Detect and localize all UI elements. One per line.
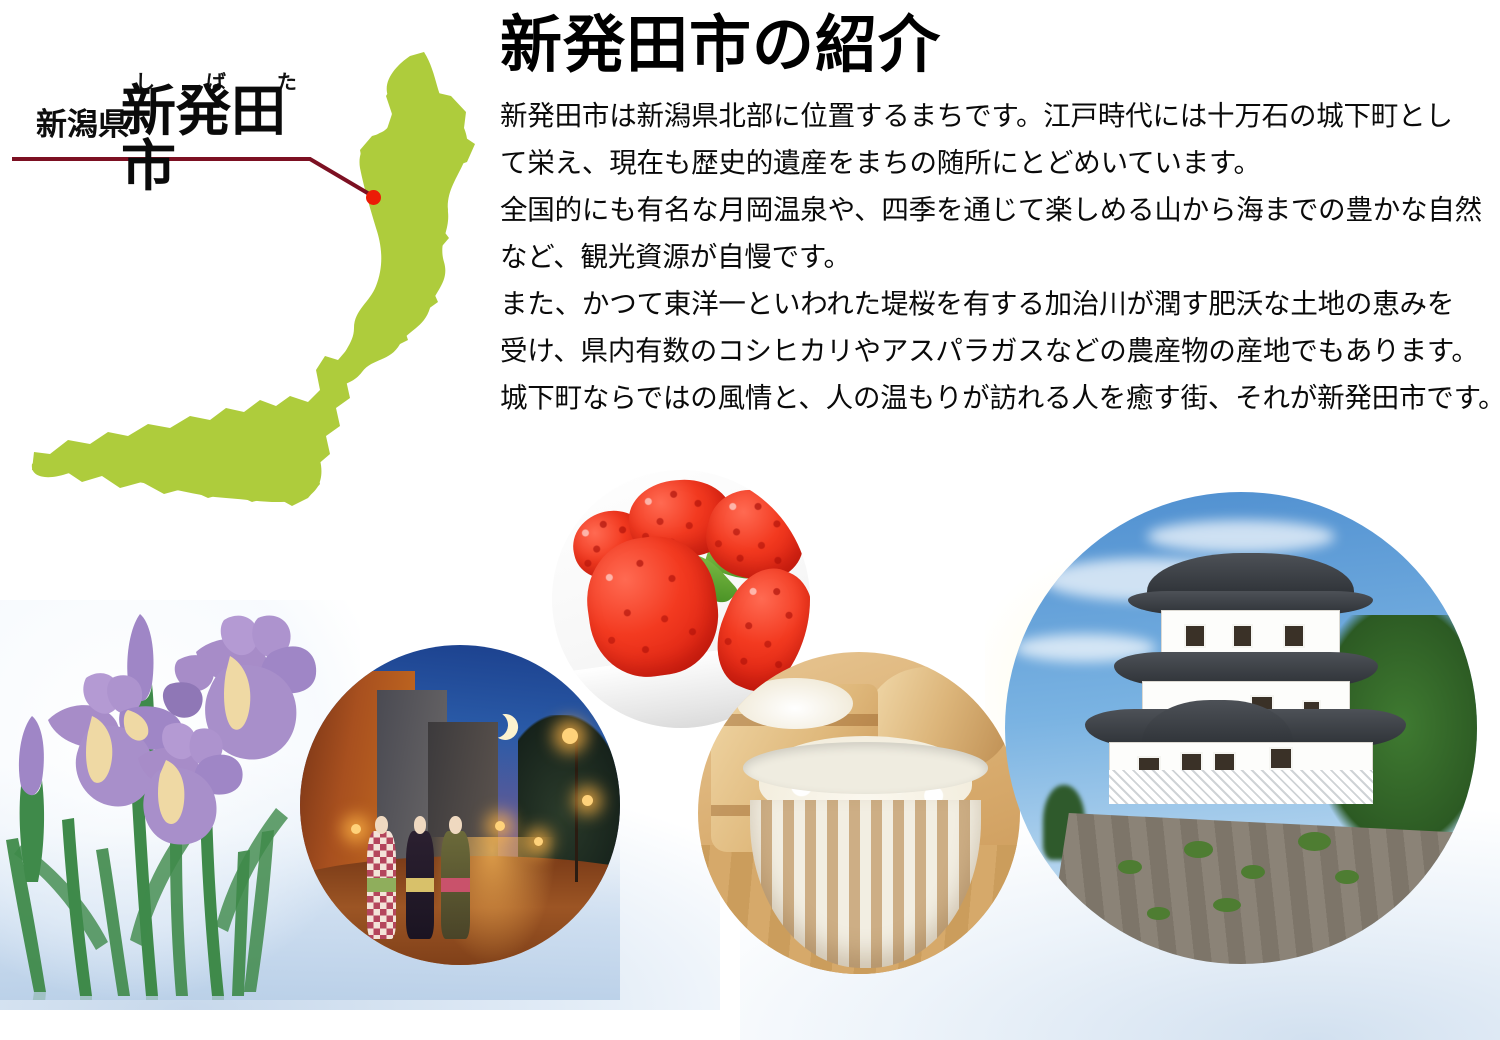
person-head <box>375 816 388 833</box>
article-line: 城下町ならではの風情と、人の温もりが訪れる人を癒す街、それが新発田市です。 <box>500 375 1485 422</box>
rice-in-ohitsu <box>737 678 853 730</box>
page-title: 新発田市の紹介 <box>500 12 1485 77</box>
person-head <box>449 816 462 833</box>
street-lamp-icon <box>534 837 543 846</box>
yukata-obi <box>406 878 435 891</box>
wall-shrub <box>1213 898 1241 912</box>
person-in-yukata <box>406 831 435 940</box>
castle-window <box>1184 624 1205 648</box>
wall-shrub <box>1147 907 1171 919</box>
article-body: 新発田市は新潟県北部に位置するまちです。江戸時代には十万石の城下町とし て栄え、… <box>500 93 1485 422</box>
castle-window <box>1283 624 1304 648</box>
person-head <box>414 816 427 833</box>
region-label: し ば た 新潟県 新発田市 <box>18 66 338 166</box>
rice-bowl-rim <box>743 742 988 794</box>
street-lamp-icon <box>582 795 593 806</box>
region-label-prefecture: 新潟県 <box>36 99 129 144</box>
article: 新発田市の紹介 新発田市は新潟県北部に位置するまちです。江戸時代には十万石の城下… <box>500 12 1485 422</box>
article-line: 全国的にも有名な月岡温泉や、四季を通じて楽しめる山から海までの豊かな自然 <box>500 187 1485 234</box>
castle-window <box>1269 747 1293 771</box>
yukata-obi <box>367 878 396 891</box>
photo-tsukioka-onsen-street <box>300 645 620 965</box>
article-line: て栄え、現在も歴史的遺産をまちの随所にとどめいています。 <box>500 140 1485 187</box>
person-in-yukata <box>441 831 470 940</box>
wall-shrub <box>1241 865 1265 879</box>
photo-koshihikari-rice-bowl <box>698 652 1020 974</box>
castle-stone-wall <box>1043 813 1477 964</box>
map-marker-dot <box>366 190 381 205</box>
article-line: 受け、県内有数のコシヒカリやアスパラガスなどの農産物の産地でもあります。 <box>500 328 1485 375</box>
article-line: 新発田市は新潟県北部に位置するまちです。江戸時代には十万石の城下町とし <box>500 93 1485 140</box>
wall-shrub <box>1184 841 1212 858</box>
street-lamp-post <box>575 735 578 882</box>
yukata-obi <box>441 878 470 891</box>
castle-namako-wall <box>1109 770 1373 803</box>
iris-flowers <box>0 600 320 1000</box>
wall-shrub <box>1298 832 1331 851</box>
article-line: また、かつて東洋一といわれた堤桜を有する加治川が潤す肥沃な土地の恵みを <box>500 281 1485 328</box>
photo-shibata-castle <box>1005 492 1477 964</box>
region-label-city: 新発田市 <box>121 83 338 193</box>
wall-shrub <box>1335 870 1359 884</box>
article-line: など、観光資源が自慢です。 <box>500 234 1485 281</box>
castle-window <box>1232 624 1253 648</box>
iris-leaves <box>6 798 288 996</box>
person-in-yukata <box>367 831 396 940</box>
